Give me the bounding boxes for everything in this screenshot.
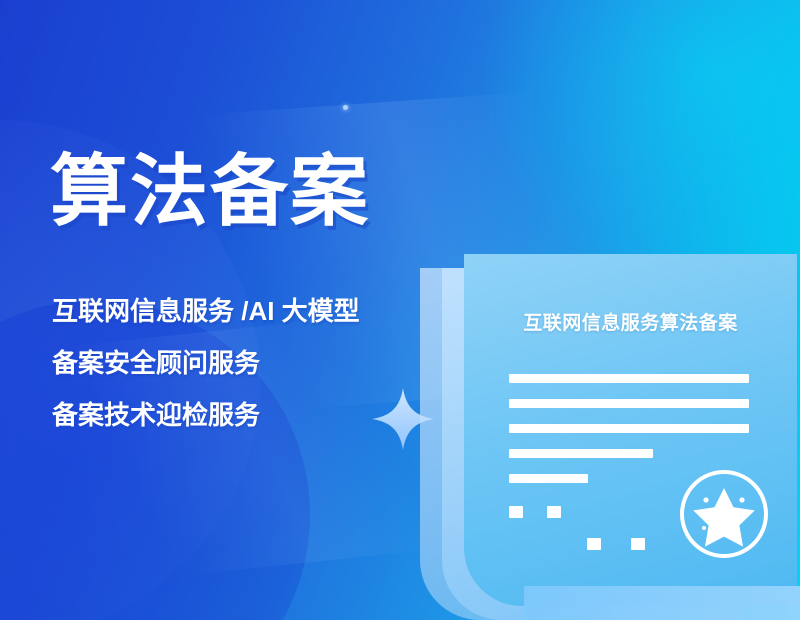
star-seal-icon <box>676 466 772 562</box>
bottom-accent-panel <box>524 586 800 620</box>
list-item: 备案技术迎检服务 <box>52 402 360 428</box>
list-item: 互联网信息服务 /AI 大模型 <box>52 298 360 324</box>
page-title: 算法备案 <box>50 152 370 230</box>
document-mark <box>509 506 523 518</box>
document-sheet-front: 互联网信息服务算法备案 <box>464 254 797 606</box>
document-card-title: 互联网信息服务算法备案 <box>464 308 797 335</box>
document-mark <box>631 538 645 550</box>
document-text-line <box>509 474 588 483</box>
document-mark <box>547 506 561 518</box>
document-text-line <box>509 399 749 408</box>
document-mark <box>587 538 601 550</box>
service-list: 互联网信息服务 /AI 大模型 备案安全顾问服务 备案技术迎检服务 <box>52 298 360 428</box>
document-text-line <box>509 449 653 458</box>
spark-dot-icon <box>343 105 348 110</box>
document-text-line <box>509 374 749 383</box>
document-text-line <box>509 424 749 433</box>
promo-banner: 算法备案 互联网信息服务 /AI 大模型 备案安全顾问服务 备案技术迎检服务 互… <box>0 0 800 620</box>
list-item: 备案安全顾问服务 <box>52 350 360 376</box>
